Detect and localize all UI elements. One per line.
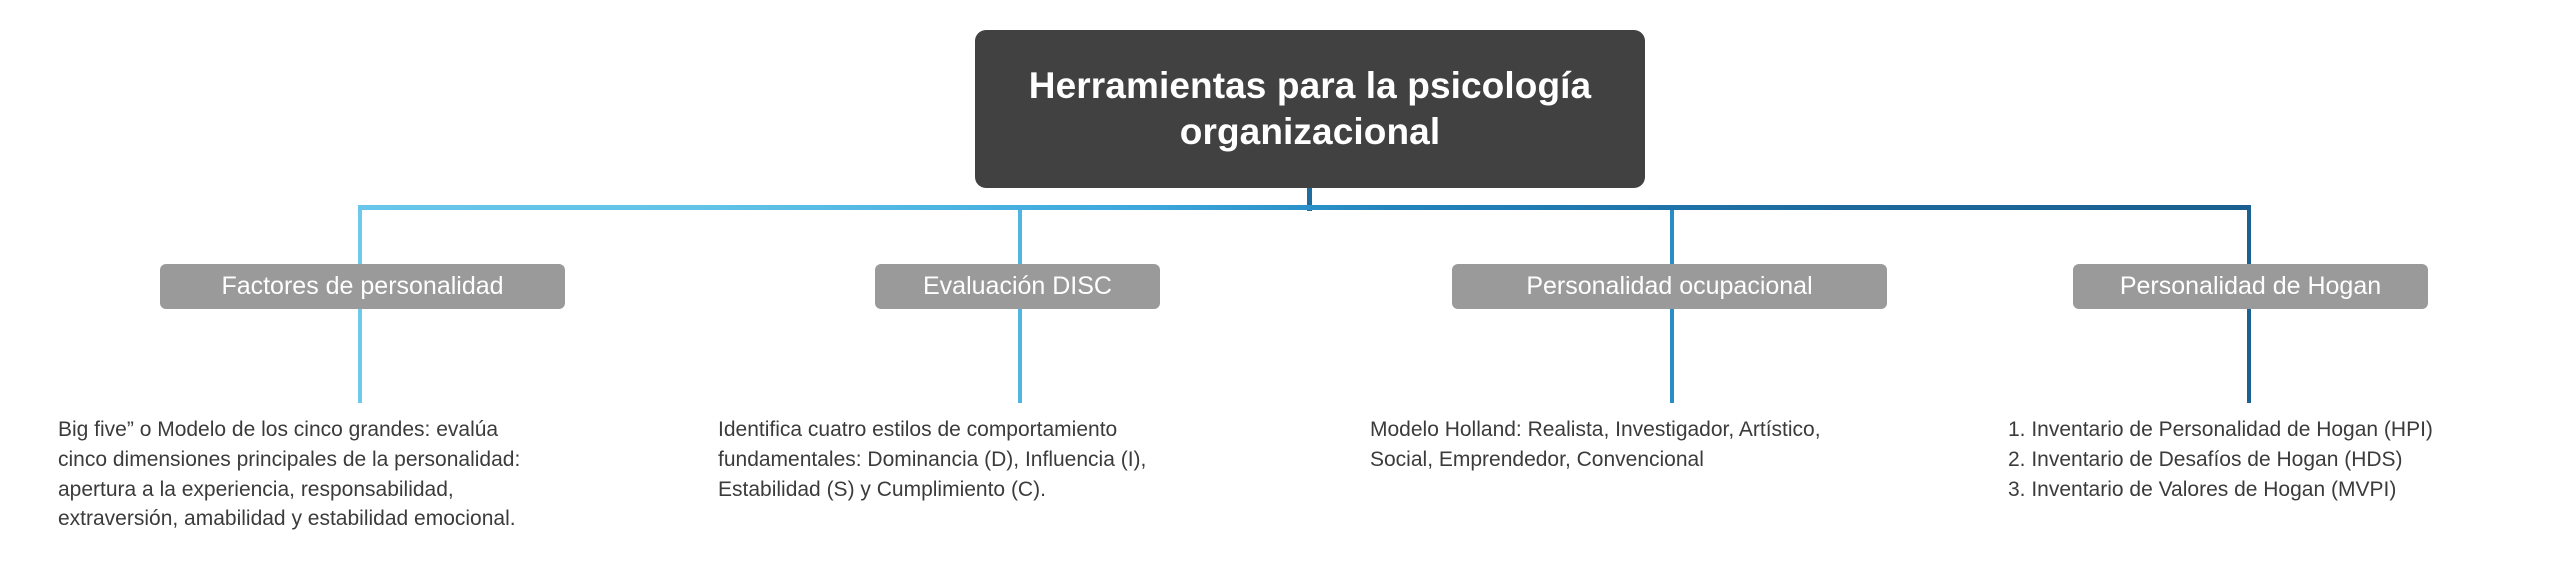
branch-node-personalidad-de-hogan[interactable]: Personalidad de Hogan [2073, 264, 2428, 309]
diagram-canvas: Herramientas para la psicología organiza… [0, 0, 2560, 583]
branch-node-label: Evaluación DISC [923, 274, 1112, 299]
root-node-herramientas[interactable]: Herramientas para la psicología organiza… [975, 30, 1645, 188]
description-personalidad-de-hogan: 1. Inventario de Personalidad de Hogan (… [2008, 415, 2548, 504]
root-node-label: Herramientas para la psicología organiza… [975, 63, 1645, 155]
description-factores-de-personalidad: Big five” o Modelo de los cinco grandes:… [58, 415, 658, 534]
branch-node-label: Personalidad ocupacional [1526, 274, 1812, 299]
branch-node-factores-de-personalidad[interactable]: Factores de personalidad [160, 264, 565, 309]
description-evaluacion-disc: Identifica cuatro estilos de comportamie… [718, 415, 1278, 504]
branch-node-label: Factores de personalidad [221, 274, 503, 299]
branch-node-personalidad-ocupacional[interactable]: Personalidad ocupacional [1452, 264, 1887, 309]
branch-node-label: Personalidad de Hogan [2120, 274, 2381, 299]
description-personalidad-ocupacional: Modelo Holland: Realista, Investigador, … [1370, 415, 1970, 475]
branch-node-evaluacion-disc[interactable]: Evaluación DISC [875, 264, 1160, 309]
connector-horizontal-trunk [358, 205, 2250, 210]
